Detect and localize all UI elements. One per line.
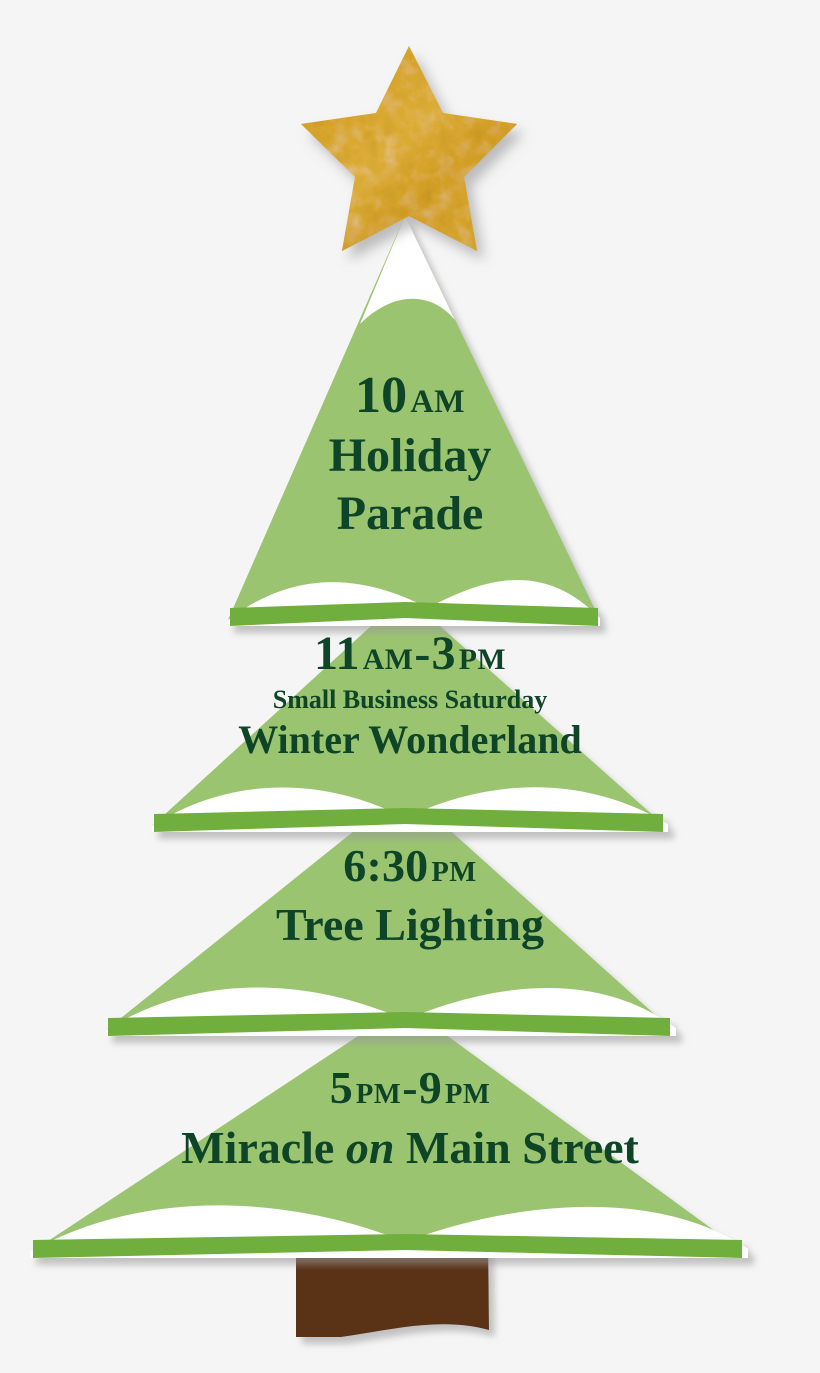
tier-4-event-part-2: Main Street <box>406 1122 639 1173</box>
tier-3-event: Tree Lighting <box>0 902 820 948</box>
tier-3-meridiem: PM <box>428 857 476 888</box>
tier-2-meridiem-start: AM <box>360 643 414 676</box>
tier-4-text-block: 5PM-9PM Miracle on Main Street <box>0 1065 820 1171</box>
tier-1-time: 10AM <box>0 370 820 422</box>
tier-4-dash: - <box>401 1062 419 1113</box>
tier-4-event-part-1: Miracle <box>181 1122 334 1173</box>
tier-3-time: 6:30PM <box>0 843 820 889</box>
tier-4-time-range: 5PM-9PM <box>0 1065 820 1111</box>
tier-2-time-range: 11AM-3PM <box>0 630 820 678</box>
tier-1-meridiem: AM <box>407 383 465 419</box>
tier-2-event: Winter Wonderland <box>0 720 820 760</box>
star-icon <box>301 46 517 251</box>
tier-1-event-line-1: Holiday <box>0 432 820 480</box>
tier-4-meridiem-end: PM <box>442 1079 490 1110</box>
tier-1-text-block: 10AM Holiday Parade <box>0 370 820 538</box>
tier-2-dash: - <box>413 627 431 680</box>
tier-2-meridiem-end: PM <box>456 643 506 676</box>
tier-1-event-line-2: Parade <box>0 490 820 538</box>
tier-4-meridiem-start: PM <box>353 1079 401 1110</box>
tier-2-text-block: 11AM-3PM Small Business Saturday Winter … <box>0 630 820 760</box>
tier-4-event-italic: on <box>346 1122 395 1173</box>
tier-2-subtitle: Small Business Saturday <box>0 687 820 713</box>
christmas-tree-graphic: 10AM Holiday Parade 11AM-3PM Small Busin… <box>0 0 820 1373</box>
tier-4-event: Miracle on Main Street <box>0 1125 820 1171</box>
tier-3-text-block: 6:30PM Tree Lighting <box>0 843 820 948</box>
